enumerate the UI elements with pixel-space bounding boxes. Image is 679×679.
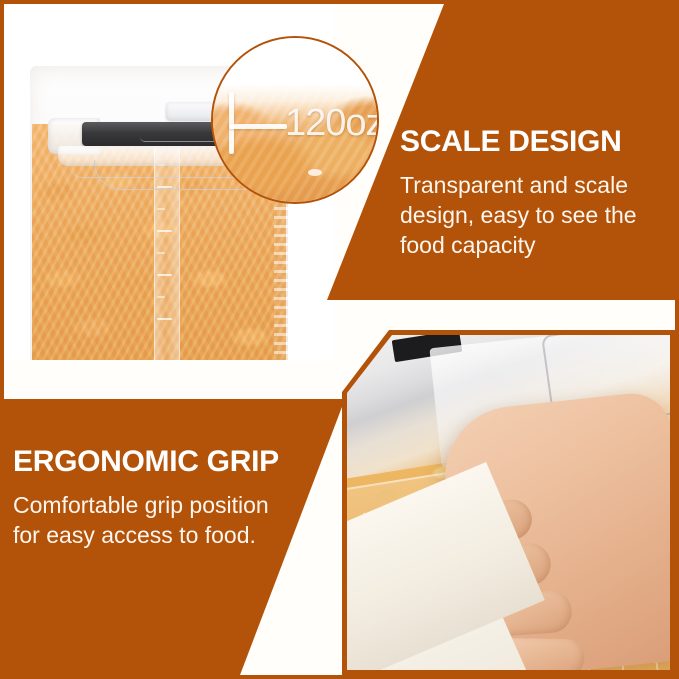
scale-capacity-label: 120oz xyxy=(285,104,379,142)
body-line: Transparent and scale xyxy=(400,170,662,200)
scale-tick xyxy=(157,230,172,232)
scale-tick xyxy=(157,274,172,276)
body-line: for easy access to food. xyxy=(13,520,333,550)
photo-hand-grip-container xyxy=(342,330,675,675)
heading-scale-design: SCALE DESIGN xyxy=(400,126,662,158)
magnifier-circle-scale-closeup: 120oz xyxy=(211,36,379,204)
scale-tick-horizontal xyxy=(229,124,287,129)
panel-scale-design-text: SCALE DESIGN Transparent and scale desig… xyxy=(400,126,662,261)
body-ergonomic-grip: Comfortable grip position for easy acces… xyxy=(13,490,333,551)
body-line: food capacity xyxy=(400,230,662,260)
body-line: design, easy to see the xyxy=(400,200,662,230)
scale-tick xyxy=(157,208,165,210)
heading-ergonomic-grip: ERGONOMIC GRIP xyxy=(13,446,333,478)
photo-hand-grip-inner xyxy=(347,335,670,670)
panel-ergonomic-grip-text: ERGONOMIC GRIP Comfortable grip position… xyxy=(13,446,333,550)
scale-tick xyxy=(157,252,165,254)
magnifier-content: 120oz xyxy=(213,38,377,202)
product-infographic: 120oz SCALE DESIGN Transparent and scale… xyxy=(0,0,679,679)
body-scale-design: Transparent and scale design, easy to se… xyxy=(400,170,662,261)
scale-tick xyxy=(157,318,172,320)
scale-tick xyxy=(157,296,165,298)
scale-tick-vertical xyxy=(229,92,234,154)
container-highlight-dot xyxy=(308,169,322,176)
body-line: Comfortable grip position xyxy=(13,490,333,520)
